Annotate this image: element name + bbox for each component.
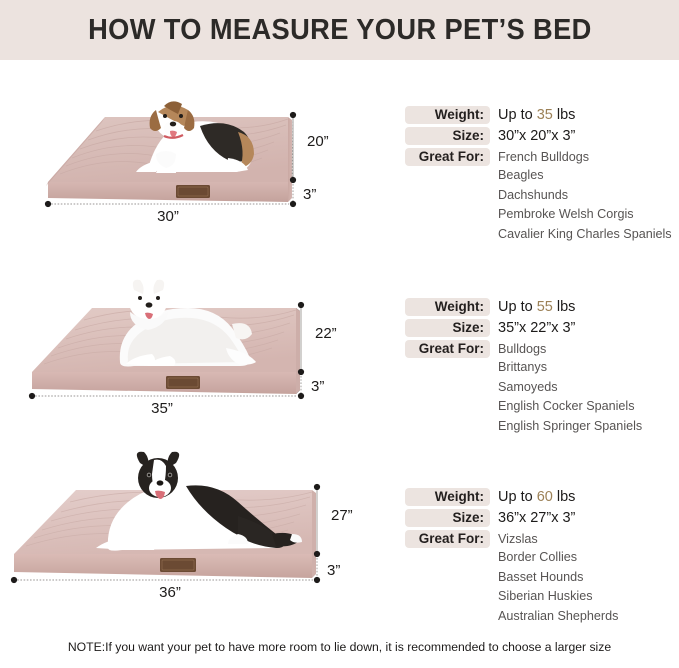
depth-label: 27” [331, 507, 353, 524]
height-label: 3” [327, 562, 340, 579]
spec-weight-row: Weight: Up to 60 lbs [405, 488, 679, 506]
dim-dot [290, 177, 296, 183]
spec-size-row: Size: 36”x 27”x 3” [405, 509, 679, 527]
width-label: 30” [157, 208, 179, 225]
weight-number: 60 [537, 489, 553, 505]
dim-dot [298, 393, 304, 399]
breed-item: Pembroke Welsh Corgis [498, 205, 672, 225]
breed-item: Brittanys [498, 358, 642, 378]
great-for-label: Great For: [405, 530, 490, 548]
breed-item: Border Collies [498, 548, 618, 568]
weight-unit: lbs [557, 107, 576, 123]
spec-panel-medium: Weight: Up to 55 lbs Size: 35”x 22”x 3” … [405, 298, 679, 439]
spec-size-row: Size: 30”x 20”x 3” [405, 127, 679, 145]
spec-greatfor-row: Great For: Vizslas Border Collies Basset… [405, 530, 679, 626]
size-label: Size: [405, 319, 490, 337]
weight-label: Weight: [405, 298, 490, 316]
bed-illustration-large: 27” 3” 36” [0, 430, 405, 630]
breed-item: Siberian Huskies [498, 587, 618, 607]
breed-item: Basset Hounds [498, 568, 618, 588]
weight-prefix: Up to [498, 299, 533, 315]
dim-dot [314, 551, 320, 557]
breed-item: Vizslas [498, 530, 618, 548]
size-value: 36”x 27”x 3” [490, 509, 575, 527]
weight-unit: lbs [557, 489, 576, 505]
dim-dot [290, 112, 296, 118]
breed-item: Samoyeds [498, 378, 642, 398]
depth-label: 22” [315, 325, 337, 342]
page-title: HOW TO MEASURE YOUR PET’S BED [88, 14, 592, 47]
breed-item: Australian Shepherds [498, 607, 618, 627]
width-label: 36” [159, 584, 181, 601]
width-label: 35” [151, 400, 173, 417]
breed-item: French Bulldogs [498, 148, 672, 166]
bed-row-large: 27” 3” 36” Weight: Up to 60 lbs Size: 36… [0, 430, 679, 630]
breed-item: Cavalier King Charles Spaniels [498, 225, 672, 245]
height-label: 3” [303, 186, 316, 203]
bed-illustration-small: 20” 3” 30” [0, 62, 405, 248]
dim-dot [298, 302, 304, 308]
bed-front-band [32, 372, 296, 394]
dim-dot [314, 484, 320, 490]
weight-number: 35 [537, 107, 553, 123]
weight-prefix: Up to [498, 489, 533, 505]
weight-number: 55 [537, 299, 553, 315]
breed-item: Dachshunds [498, 186, 672, 206]
bed-row-small: 20” 3” 30” Weight: Up to 35 lbs Size: 30… [0, 62, 679, 248]
size-label: Size: [405, 127, 490, 145]
spec-greatfor-row: Great For: French Bulldogs Beagles Dachs… [405, 148, 679, 244]
weight-value: Up to 35 lbs [490, 106, 575, 124]
great-for-label: Great For: [405, 340, 490, 358]
weight-value: Up to 60 lbs [490, 488, 575, 506]
bed-right-panel [312, 490, 316, 578]
breed-item: Beagles [498, 166, 672, 186]
spec-size-row: Size: 35”x 22”x 3” [405, 319, 679, 337]
great-for-label: Great For: [405, 148, 490, 166]
bed-svg-small: 20” 3” 30” [0, 62, 405, 248]
breed-list: French Bulldogs Beagles Dachshunds Pembr… [490, 148, 672, 244]
weight-label: Weight: [405, 106, 490, 124]
weight-prefix: Up to [498, 107, 533, 123]
breed-list: Vizslas Border Collies Basset Hounds Sib… [490, 530, 618, 626]
header-banner: HOW TO MEASURE YOUR PET’S BED [0, 0, 679, 60]
dim-dot [11, 577, 17, 583]
bed-row-medium: 22” 3” 35” Weight: Up to 55 lbs Size: 35… [0, 250, 679, 436]
breed-item: English Cocker Spaniels [498, 397, 642, 417]
dim-dot [290, 201, 296, 207]
spec-panel-large: Weight: Up to 60 lbs Size: 36”x 27”x 3” … [405, 488, 679, 629]
breed-item: Bulldogs [498, 340, 642, 358]
spec-greatfor-row: Great For: Bulldogs Brittanys Samoyeds E… [405, 340, 679, 436]
size-value: 30”x 20”x 3” [490, 127, 575, 145]
footer-note: NOTE:If you want your pet to have more r… [0, 640, 679, 654]
weight-unit: lbs [557, 299, 576, 315]
weight-value: Up to 55 lbs [490, 298, 575, 316]
dim-dot [45, 201, 51, 207]
bed-svg-medium: 22” 3” 35” [0, 250, 405, 436]
size-label: Size: [405, 509, 490, 527]
weight-label: Weight: [405, 488, 490, 506]
bed-right-panel [288, 117, 292, 202]
bed-front-band [48, 182, 288, 202]
spec-panel-small: Weight: Up to 35 lbs Size: 30”x 20”x 3” … [405, 106, 679, 247]
dim-dot [29, 393, 35, 399]
spec-weight-row: Weight: Up to 35 lbs [405, 106, 679, 124]
breed-list: Bulldogs Brittanys Samoyeds English Cock… [490, 340, 642, 436]
infographic-page: HOW TO MEASURE YOUR PET’S BED [0, 0, 679, 668]
bed-svg-large: 27” 3” 36” [0, 430, 405, 630]
bed-illustration-medium: 22” 3” 35” [0, 250, 405, 436]
spec-weight-row: Weight: Up to 55 lbs [405, 298, 679, 316]
height-label: 3” [311, 378, 324, 395]
depth-label: 20” [307, 133, 329, 150]
dim-dot [314, 577, 320, 583]
size-value: 35”x 22”x 3” [490, 319, 575, 337]
dim-dot [298, 369, 304, 375]
